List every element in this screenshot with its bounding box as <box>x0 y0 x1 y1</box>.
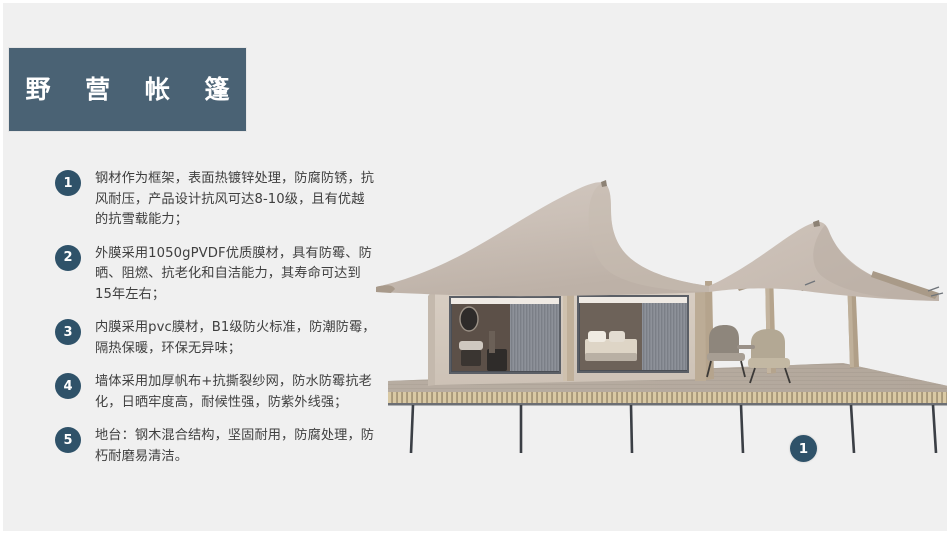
feature-list: 1 钢材作为框架，表面热镀锌处理，防腐防锈，抗风耐压，产品设计抗风可达8-10级… <box>55 169 377 480</box>
list-item: 1 钢材作为框架，表面热镀锌处理，防腐防锈，抗风耐压，产品设计抗风可达8-10级… <box>55 169 377 231</box>
feature-badge-5: 5 <box>55 427 81 453</box>
feature-text-2: 外膜采用1050gPVDF优质膜材，具有防霉、防晒、阻燃、抗老化和自洁能力，其寿… <box>95 244 377 306</box>
feature-text-1: 钢材作为框架，表面热镀锌处理，防腐防锈，抗风耐压，产品设计抗风可达8-10级，且… <box>95 169 377 231</box>
list-item: 2 外膜采用1050gPVDF优质膜材，具有防霉、防晒、阻燃、抗老化和自洁能力，… <box>55 244 377 306</box>
feature-text-4: 墙体采用加厚帆布+抗撕裂纱网，防水防霉抗老化，日晒牢度高，耐候性强，防紫外线强； <box>95 372 377 413</box>
feature-text-3: 内膜采用pvc膜材，B1级防火标准，防潮防霉，隔热保暖，环保无异味； <box>95 318 377 359</box>
list-item: 3 内膜采用pvc膜材，B1级防火标准，防潮防霉，隔热保暖，环保无异味； <box>55 318 377 359</box>
deck-edge <box>388 392 948 404</box>
feature-badge-3: 3 <box>55 319 81 345</box>
list-item: 5 地台：钢木混合结构，坚固耐用，防腐处理，防朽耐磨易清洁。 <box>55 426 377 467</box>
feature-badge-2: 2 <box>55 245 81 271</box>
feature-badge-1: 1 <box>55 170 81 196</box>
feature-badge-4: 4 <box>55 373 81 399</box>
deck-legs <box>411 405 936 453</box>
tent-illustration: 1 2 3 4 5 <box>373 153 948 453</box>
tent-cabin <box>428 286 706 386</box>
list-item: 4 墙体采用加厚帆布+抗撕裂纱网，防水防霉抗老化，日晒牢度高，耐候性强，防紫外线… <box>55 372 377 413</box>
feature-text-5: 地台：钢木混合结构，坚固耐用，防腐处理，防朽耐磨易清洁。 <box>95 426 377 467</box>
callout-badge-1[interactable]: 1 <box>790 435 817 462</box>
title-banner: 野 营 帐 篷 <box>9 48 246 131</box>
page-title: 野 营 帐 篷 <box>12 77 242 102</box>
slide-root: 野 营 帐 篷 1 钢材作为框架，表面热镀锌处理，防腐防锈，抗风耐压，产品设计抗… <box>0 0 950 534</box>
